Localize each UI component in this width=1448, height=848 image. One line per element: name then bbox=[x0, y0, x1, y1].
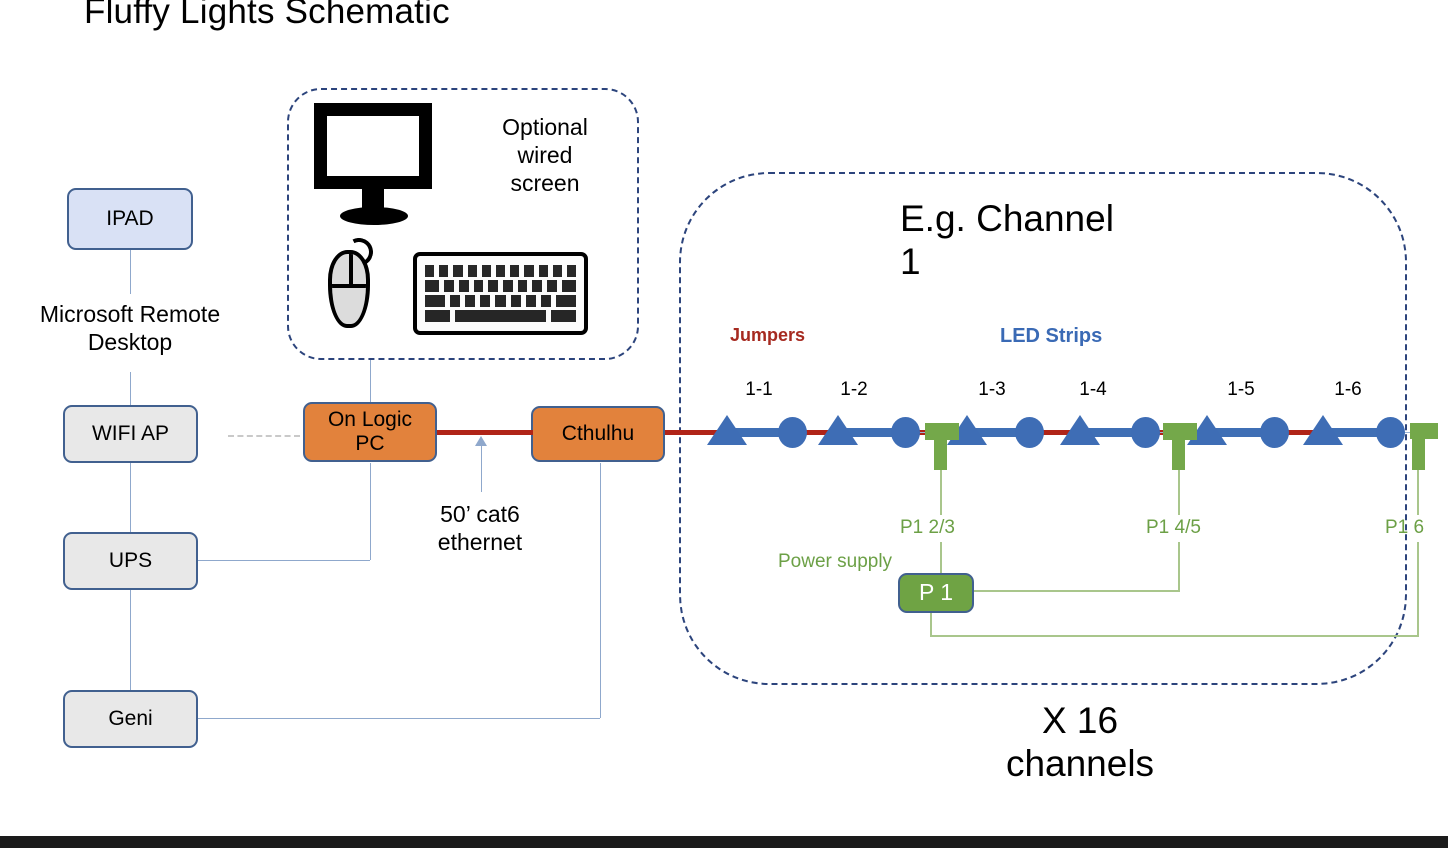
label-optional-line3: screen bbox=[470, 169, 620, 197]
label-channel-count-line1: X 16 bbox=[930, 700, 1230, 743]
strip-head-triangle-1-4 bbox=[1060, 415, 1100, 445]
strip-label-1-5: 1-5 bbox=[1211, 378, 1271, 401]
mouse-body-divider-icon bbox=[332, 284, 370, 288]
label-power-supply: Power supply bbox=[778, 550, 918, 573]
power-tap-3-stem-icon bbox=[1412, 423, 1425, 470]
node-ipad[interactable]: IPAD bbox=[67, 188, 193, 250]
power-tap-3-drop-wire-lower bbox=[1417, 542, 1419, 635]
strip-tail-circle-1-1 bbox=[778, 417, 807, 448]
link-pc-to-cthulhu bbox=[437, 430, 533, 435]
label-channel-heading-line2: 1 bbox=[900, 241, 1160, 284]
wire-ipad-to-wifi-top bbox=[130, 250, 131, 294]
power-bus-to-tap-2 bbox=[974, 590, 1180, 592]
label-channel-heading: E.g. Channel 1 bbox=[900, 198, 1160, 284]
strip-head-triangle-1-1 bbox=[707, 415, 747, 445]
strip-head-triangle-1-2 bbox=[818, 415, 858, 445]
power-tap-2-drop-wire bbox=[1178, 470, 1180, 515]
monitor-base-icon bbox=[340, 207, 408, 225]
label-ethernet: 50’ cat6 ethernet bbox=[405, 500, 555, 556]
power-tap-1-label: P1 2/3 bbox=[900, 516, 1010, 539]
strip-tail-circle-1-3 bbox=[1015, 417, 1044, 448]
power-tap-1-drop-wire bbox=[940, 470, 942, 515]
wire-ups-to-geni bbox=[130, 590, 131, 690]
label-optional-wired-screen: Optional wired screen bbox=[470, 113, 620, 197]
power-tap-1-stem-icon bbox=[934, 423, 947, 470]
node-on-logic-pc[interactable]: On Logic PC bbox=[303, 402, 437, 462]
label-channel-count-line2: channels bbox=[930, 743, 1230, 786]
legend-led-strips: LED Strips bbox=[1000, 324, 1160, 348]
keyboard-row bbox=[425, 295, 576, 307]
power-tap-2-stem-icon bbox=[1172, 423, 1185, 470]
node-wifi-ap-label: WIFI AP bbox=[92, 422, 169, 446]
keyboard-row bbox=[425, 310, 576, 322]
label-remote-desktop: Microsoft Remote Desktop bbox=[10, 300, 250, 356]
pc-label-line1: On Logic bbox=[328, 408, 412, 431]
keyboard-row bbox=[425, 280, 576, 292]
ethernet-callout-line bbox=[481, 442, 482, 492]
strip-label-1-3: 1-3 bbox=[962, 378, 1022, 401]
schematic-canvas: Fluffy Lights Schematic IPAD Microsoft R… bbox=[0, 0, 1448, 848]
node-cthulhu-label: Cthulhu bbox=[562, 422, 634, 446]
strip-label-1-4: 1-4 bbox=[1063, 378, 1123, 401]
wire-geni-to-cthulhu-vertical bbox=[600, 463, 601, 718]
label-remote-desktop-line2: Desktop bbox=[10, 328, 250, 356]
power-tap-2-drop-wire-lower bbox=[1178, 542, 1180, 590]
node-cthulhu[interactable]: Cthulhu bbox=[531, 406, 665, 462]
label-ethernet-line2: ethernet bbox=[405, 528, 555, 556]
pc-label-line2: PC bbox=[355, 432, 384, 455]
strip-tail-circle-1-4 bbox=[1131, 417, 1160, 448]
legend-jumpers: Jumpers bbox=[730, 325, 850, 347]
power-tap-3-drop-wire bbox=[1417, 470, 1419, 515]
power-tap-3-label: P1 6 bbox=[1385, 516, 1448, 539]
label-remote-desktop-line1: Microsoft Remote bbox=[10, 300, 250, 328]
node-ups[interactable]: UPS bbox=[63, 532, 198, 590]
label-optional-line1: Optional bbox=[470, 113, 620, 141]
strip-label-1-6: 1-6 bbox=[1318, 378, 1378, 401]
page-title: Fluffy Lights Schematic bbox=[84, 0, 450, 32]
monitor-icon bbox=[314, 103, 432, 189]
wireless-link-wifi-to-pc bbox=[228, 435, 300, 437]
strip-head-triangle-1-6 bbox=[1303, 415, 1343, 445]
node-wifi-ap[interactable]: WIFI AP bbox=[63, 405, 198, 463]
wire-peripherals-to-pc bbox=[370, 360, 371, 405]
node-power-supply-p1-label: P 1 bbox=[919, 580, 953, 606]
wire-ups-to-pc-horizontal bbox=[198, 560, 370, 561]
strip-label-1-2: 1-2 bbox=[824, 378, 884, 401]
wire-geni-to-cthulhu-horizontal bbox=[198, 718, 600, 719]
wire-ups-to-pc-vertical bbox=[370, 463, 371, 560]
bottom-bar bbox=[0, 836, 1448, 848]
ethernet-callout-arrow-icon bbox=[475, 436, 487, 446]
node-ups-label: UPS bbox=[109, 549, 152, 573]
keyboard-row bbox=[425, 265, 576, 277]
power-bus-to-tap-3-vertical bbox=[930, 613, 932, 636]
wire-wifi-to-ups bbox=[130, 463, 131, 532]
strip-tail-circle-1-6 bbox=[1376, 417, 1405, 448]
power-bus-to-tap-3-horizontal bbox=[930, 635, 1419, 637]
node-geni-label: Geni bbox=[108, 707, 152, 731]
label-ethernet-line1: 50’ cat6 bbox=[405, 500, 555, 528]
wire-ipad-to-wifi-bottom bbox=[130, 372, 131, 405]
node-geni[interactable]: Geni bbox=[63, 690, 198, 748]
label-optional-line2: wired bbox=[470, 141, 620, 169]
strip-tail-circle-1-2 bbox=[891, 417, 920, 448]
label-channel-count: X 16 channels bbox=[930, 700, 1230, 786]
strip-label-1-1: 1-1 bbox=[729, 378, 789, 401]
strip-tail-circle-1-5 bbox=[1260, 417, 1289, 448]
node-on-logic-pc-label: On Logic PC bbox=[328, 408, 412, 455]
power-tap-2-label: P1 4/5 bbox=[1146, 516, 1256, 539]
node-power-supply-p1[interactable]: P 1 bbox=[898, 573, 974, 613]
keyboard-icon bbox=[413, 252, 588, 335]
label-channel-heading-line1: E.g. Channel bbox=[900, 198, 1160, 241]
node-ipad-label: IPAD bbox=[106, 207, 153, 231]
